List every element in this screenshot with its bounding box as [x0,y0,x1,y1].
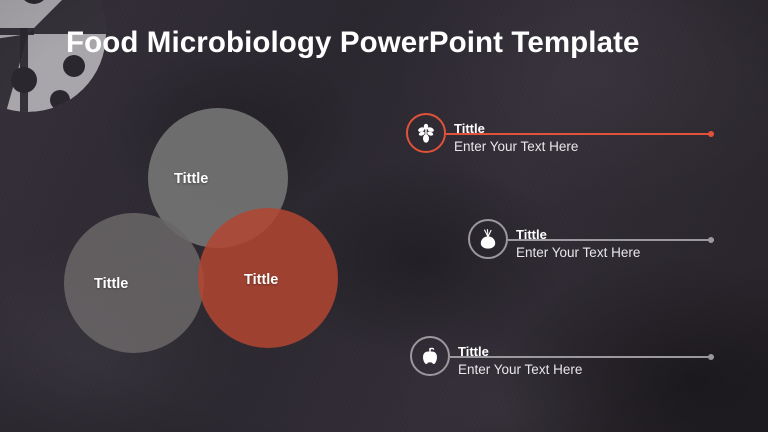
bell-pepper-icon[interactable] [410,336,450,376]
list-item-endpoint-dot [708,131,714,137]
list-item-subtitle: Enter Your Text Here [458,362,582,377]
list-item-title: Tittle [454,121,485,136]
page-title: Food Microbiology PowerPoint Template [66,26,640,60]
list-item-endpoint-dot [708,237,714,243]
venn-circle-left [64,213,204,353]
list-item-title: Tittle [516,227,547,242]
list-item-subtitle: Enter Your Text Here [516,245,640,260]
list-item-subtitle: Enter Your Text Here [454,139,578,154]
list-item[interactable]: Tittle Enter Your Text Here [410,336,716,392]
list-item-connector [450,356,714,358]
list-item-connector [446,133,714,135]
slide-canvas: Food Microbiology PowerPoint Template Ti… [0,0,768,432]
venn-label-right: Tittle [244,272,278,288]
list-item[interactable]: Tittle Enter Your Text Here [468,219,716,275]
onion-icon[interactable] [468,219,508,259]
list-item[interactable]: Tittle Enter Your Text Here [406,113,716,169]
sprout-icon[interactable] [406,113,446,153]
venn-diagram: Tittle Tittle Tittle [52,100,352,360]
list-item-endpoint-dot [708,354,714,360]
list-item-title: Tittle [458,344,489,359]
venn-label-left: Tittle [94,276,128,292]
venn-label-top: Tittle [174,171,208,187]
